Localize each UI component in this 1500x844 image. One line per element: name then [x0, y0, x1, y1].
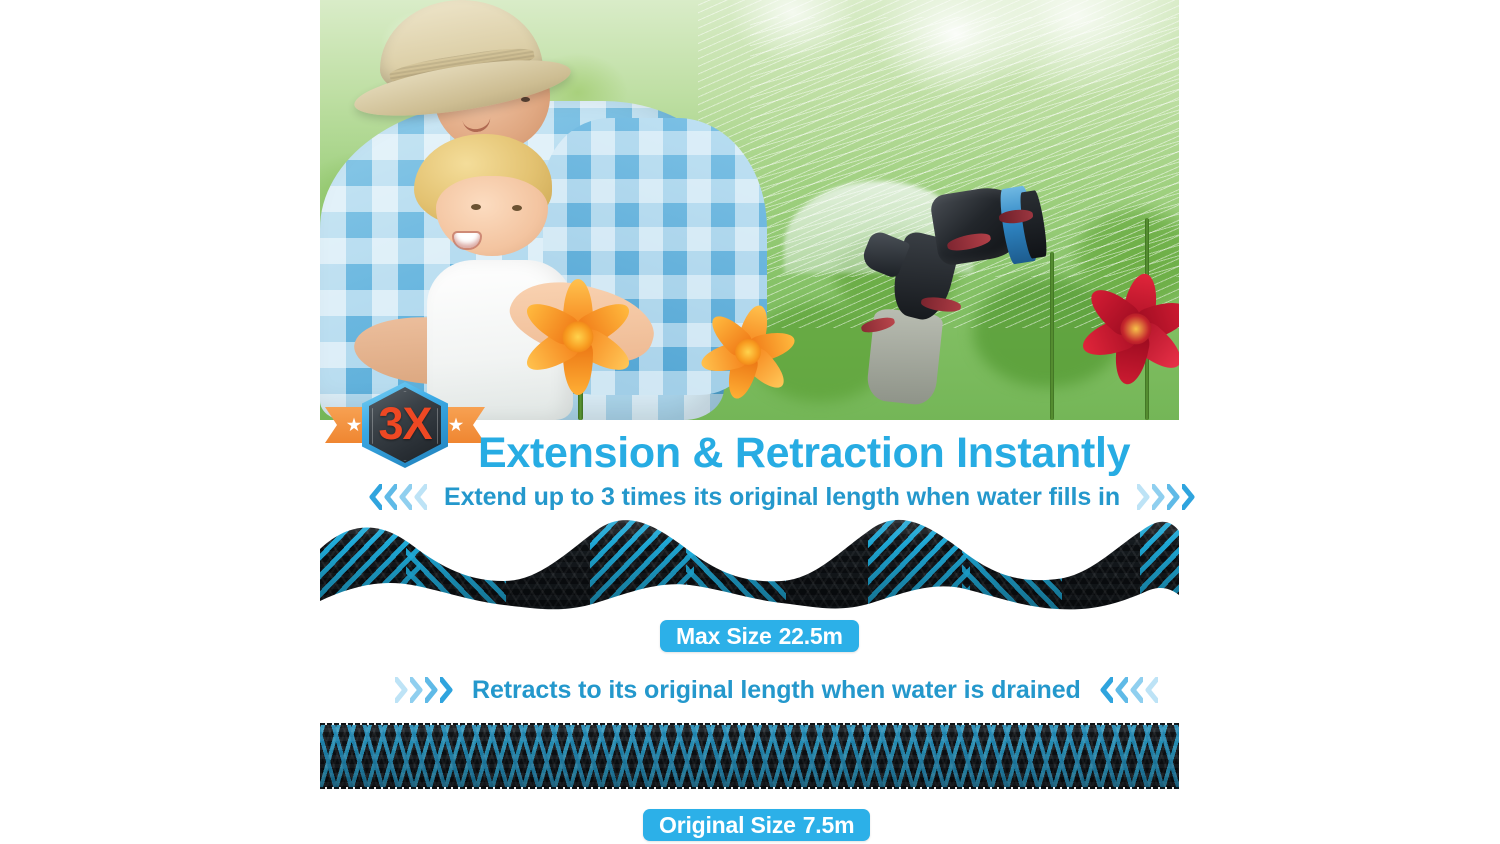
chevron-right-icon — [410, 677, 423, 703]
red-lily — [1076, 269, 1179, 389]
chevron-right-icon — [1137, 484, 1150, 510]
chevron-left-icon — [1145, 677, 1158, 703]
badge-multiplier-label: 3X — [325, 395, 485, 453]
orange-lily — [698, 302, 798, 402]
chevron-left-icon — [1115, 677, 1128, 703]
chevron-left-icon — [414, 484, 427, 510]
infographic-page: 3X Extension & Retraction Instantly Exte… — [0, 0, 1500, 844]
hose-expanded-body — [320, 519, 1179, 611]
chevron-left-icon — [369, 484, 382, 510]
hose-retracted-shading — [320, 717, 1179, 795]
retract-arrows-left — [394, 677, 454, 703]
extend-arrows-right — [1136, 484, 1196, 510]
chevron-left-icon — [399, 484, 412, 510]
retract-caption: Retracts to its original length when wat… — [472, 676, 1081, 705]
chevron-left-icon — [1100, 677, 1113, 703]
hose-bottom-edge-scallop — [320, 787, 1179, 795]
retract-arrow-row: Retracts to its original length when wat… — [394, 668, 1159, 712]
max-size-label: Max Size 22.5m — [660, 620, 859, 652]
flower-stem — [1050, 252, 1054, 420]
max-size-text: Max Size — [676, 623, 772, 650]
hose-shading — [320, 519, 1179, 611]
original-size-value: 7.5m — [803, 812, 855, 839]
chevron-left-icon — [1130, 677, 1143, 703]
page-title: Extension & Retraction Instantly — [478, 424, 1118, 482]
chevron-right-icon — [1152, 484, 1165, 510]
original-size-label: Original Size 7.5m — [643, 809, 870, 841]
multiplier-badge: 3X — [325, 382, 485, 468]
chevron-left-icon — [384, 484, 397, 510]
max-size-value: 22.5m — [779, 623, 843, 650]
extend-arrows-left — [368, 484, 428, 510]
chevron-right-icon — [395, 677, 408, 703]
original-size-text: Original Size — [659, 812, 796, 839]
child-eye — [471, 204, 481, 210]
chevron-right-icon — [1182, 484, 1195, 510]
extend-caption: Extend up to 3 times its original length… — [444, 483, 1120, 512]
chevron-right-icon — [425, 677, 438, 703]
orange-lily — [518, 277, 638, 397]
hose-retracted — [320, 717, 1179, 795]
chevron-right-icon — [1167, 484, 1180, 510]
hose-expanded — [320, 519, 1179, 611]
retract-arrows-right — [1099, 677, 1159, 703]
flower-center — [735, 339, 761, 365]
hose-top-edge-scallop — [320, 717, 1179, 725]
hero-photo — [320, 0, 1179, 420]
chevron-right-icon — [440, 677, 453, 703]
extend-arrow-row: Extend up to 3 times its original length… — [368, 475, 1196, 519]
